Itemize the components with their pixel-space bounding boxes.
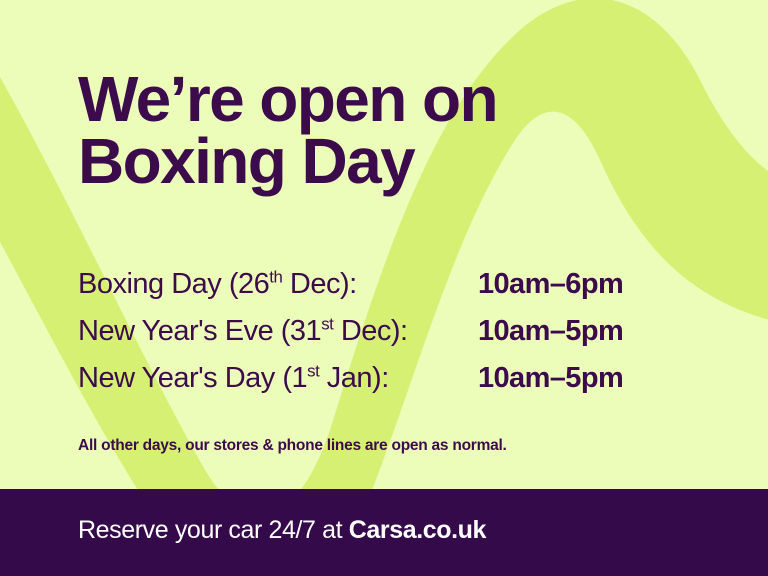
hours-day-ordinal: th bbox=[269, 267, 282, 286]
hours-day-prefix: Boxing Day (26 bbox=[78, 268, 269, 300]
hours-day-prefix: New Year's Day (1 bbox=[78, 362, 307, 394]
page-title: We’re open on Boxing Day bbox=[78, 68, 718, 192]
table-row: Boxing Day (26th Dec): 10am–6pm bbox=[78, 268, 698, 315]
hours-day-prefix: New Year's Eve (31 bbox=[78, 315, 321, 347]
hours-day-suffix: Dec): bbox=[333, 315, 407, 347]
footer-cta-lead: Reserve your car 24/7 at bbox=[78, 516, 349, 544]
table-row: New Year's Eve (31st Dec): 10am–5pm bbox=[78, 315, 698, 362]
opening-hours-table: Boxing Day (26th Dec): 10am–6pm New Year… bbox=[78, 268, 698, 409]
hours-day-label: New Year's Day (1st Jan): bbox=[78, 362, 478, 395]
hours-time-value: 10am–5pm bbox=[478, 315, 623, 348]
hours-time-value: 10am–6pm bbox=[478, 268, 623, 301]
promo-poster: We’re open on Boxing Day Boxing Day (26t… bbox=[0, 0, 768, 576]
hours-day-ordinal: st bbox=[321, 314, 333, 333]
hours-time-value: 10am–5pm bbox=[478, 362, 623, 395]
brand-name[interactable]: Carsa.co.uk bbox=[349, 516, 486, 544]
hours-day-suffix: Jan): bbox=[319, 362, 389, 394]
fine-print-note: All other days, our stores & phone lines… bbox=[78, 437, 507, 455]
footer-cta-text: Reserve your car 24/7 at Carsa.co.uk bbox=[78, 516, 486, 545]
footer-bar: Reserve your car 24/7 at Carsa.co.uk bbox=[0, 489, 768, 576]
hours-day-ordinal: st bbox=[307, 361, 319, 380]
hours-day-label: Boxing Day (26th Dec): bbox=[78, 268, 478, 301]
hours-day-label: New Year's Eve (31st Dec): bbox=[78, 315, 478, 348]
hours-day-suffix: Dec): bbox=[282, 268, 356, 300]
table-row: New Year's Day (1st Jan): 10am–5pm bbox=[78, 362, 698, 409]
